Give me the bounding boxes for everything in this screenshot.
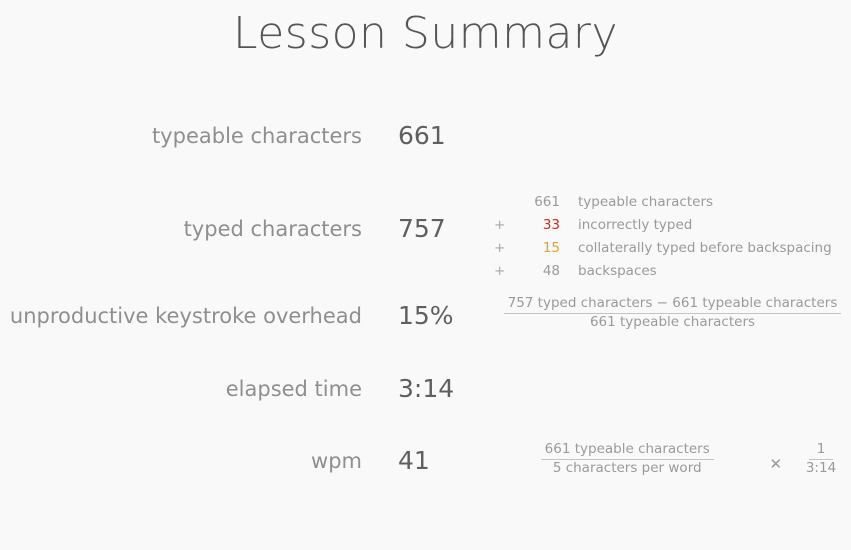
breakdown-operator: + [494, 215, 520, 238]
breakdown-operator: + [494, 261, 520, 284]
summary-row-elapsed-time: elapsed time 3:14 [0, 364, 851, 437]
row-value-typed-characters: 757 [398, 214, 446, 243]
row-label-unproductive-keystroke-overhead: unproductive keystroke overhead [0, 304, 362, 328]
row-label-elapsed-time: elapsed time [0, 377, 362, 401]
breakdown-desc-backspaces: backspaces [578, 261, 832, 284]
row-label-wpm: wpm [0, 449, 362, 473]
breakdown-desc-typeable: typeable characters [578, 192, 832, 215]
breakdown-table: 661 typeable characters + 33 incorrectly… [494, 192, 832, 284]
overhead-fraction: 757 typed characters − 661 typeable char… [494, 294, 851, 332]
row-label-typeable-characters: typeable characters [0, 124, 362, 148]
row-value-typeable-characters: 661 [398, 121, 446, 150]
table-row: + 33 incorrectly typed [494, 215, 832, 238]
summary-row-typeable-characters: typeable characters 661 [0, 104, 851, 197]
breakdown-desc-incorrect: incorrectly typed [578, 215, 832, 238]
fraction-left: 661 typeable characters 5 characters per… [494, 440, 760, 478]
breakdown-desc-collateral: collaterally typed before backspacing [578, 238, 832, 261]
fraction-right-denominator: 3:14 [798, 458, 844, 476]
breakdown-count-backspaces: 48 [520, 261, 578, 284]
row-value-unproductive-keystroke-overhead: 15% [398, 301, 454, 330]
fraction-right: 1 3:14 [791, 440, 851, 478]
table-row: 661 typeable characters [494, 192, 832, 215]
typed-characters-breakdown: 661 typeable characters + 33 incorrectly… [494, 192, 832, 284]
row-value-elapsed-time: 3:14 [398, 374, 454, 403]
wpm-expression: 661 typeable characters 5 characters per… [494, 440, 851, 478]
breakdown-operator [494, 192, 520, 215]
summary-rows: typeable characters 661 typed characters… [0, 104, 851, 507]
summary-row-unproductive-keystroke-overhead: unproductive keystroke overhead 15% 757 … [0, 290, 851, 364]
breakdown-count-typeable: 661 [520, 192, 578, 215]
row-value-wpm: 41 [398, 446, 430, 475]
multiply-icon: ✕ [760, 455, 791, 473]
fraction: 757 typed characters − 661 typeable char… [494, 294, 851, 332]
table-row: + 48 backspaces [494, 261, 832, 284]
overhead-formula: 757 typed characters − 661 typeable char… [494, 294, 851, 332]
lesson-summary-page: { "page": { "title": "Lesson Summary", "… [0, 0, 851, 550]
summary-row-typed-characters: typed characters 757 661 typeable charac… [0, 197, 851, 290]
fraction-denominator: 661 typeable characters [586, 312, 759, 330]
breakdown-count-incorrect: 33 [520, 215, 578, 238]
row-label-typed-characters: typed characters [0, 217, 362, 241]
page-title: Lesson Summary [0, 8, 851, 59]
fraction-left-denominator: 5 characters per word [549, 458, 706, 476]
breakdown-count-collateral: 15 [520, 238, 578, 261]
wpm-formula: 661 typeable characters 5 characters per… [494, 440, 851, 478]
breakdown-operator: + [494, 238, 520, 261]
summary-row-wpm: wpm 41 661 typeable characters 5 charact… [0, 437, 851, 507]
table-row: + 15 collaterally typed before backspaci… [494, 238, 832, 261]
